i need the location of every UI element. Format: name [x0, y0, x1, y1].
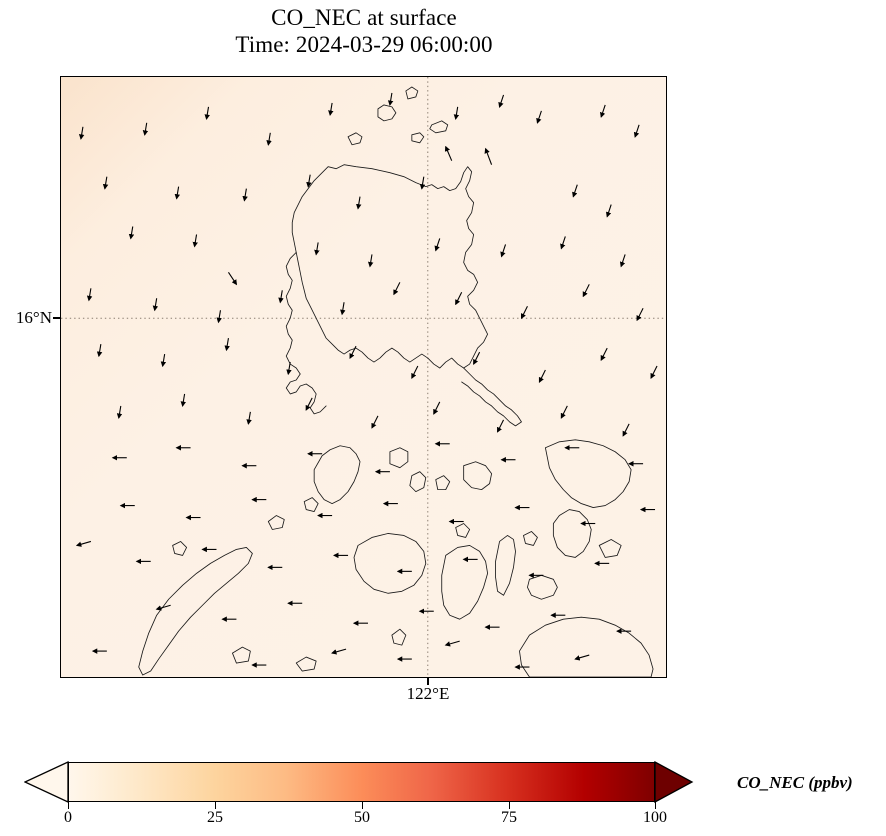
colorbar: 0 25 50 75 100 CO_NEC (ppbv) [0, 755, 886, 836]
colorbar-tick-label-25: 25 [185, 809, 245, 827]
colorbar-tick-label-0: 0 [38, 809, 98, 827]
x-tick-label-122e: 122°E [398, 684, 458, 704]
y-tick-label-group: 16°N [0, 308, 52, 328]
colorbar-gradient [69, 763, 654, 801]
colorbar-tick-label-100: 100 [625, 809, 685, 827]
colorbar-tick-100 [655, 802, 656, 809]
title-line-time: Time: 2024-03-29 06:00:00 [60, 31, 668, 58]
colorbar-tick-label-50: 50 [332, 809, 392, 827]
wind-vector-overlay [61, 77, 666, 677]
colorbar-tick-0 [68, 802, 69, 809]
colorbar-tick-25 [215, 802, 216, 809]
colorbar-extend-left [24, 761, 70, 803]
colorbar-gradient-bar [68, 762, 655, 802]
y-tick-label-16n: 16°N [16, 308, 52, 327]
y-tick-mark-16n [53, 317, 60, 319]
map-plot-area[interactable] [60, 76, 667, 678]
figure-canvas: CO_NEC at surface Time: 2024-03-29 06:00… [0, 0, 886, 836]
colorbar-tick-50 [362, 802, 363, 809]
figure-title: CO_NEC at surface Time: 2024-03-29 06:00… [60, 4, 668, 58]
colorbar-tick-label-75: 75 [479, 809, 539, 827]
title-line-variable: CO_NEC at surface [60, 4, 668, 31]
x-tick-mark-122e [427, 678, 429, 685]
colorbar-extend-right [654, 761, 694, 803]
colorbar-axis-label: CO_NEC (ppbv) [737, 773, 853, 793]
colorbar-tick-75 [509, 802, 510, 809]
